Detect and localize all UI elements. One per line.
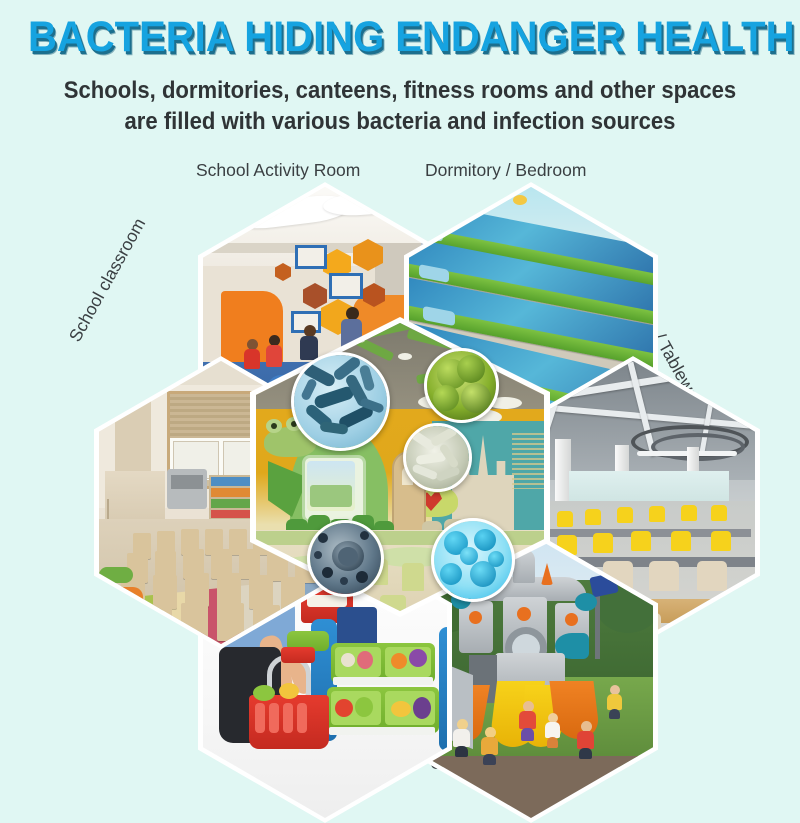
subtitle-line-2: are filled with various bacteria and inf… <box>32 107 768 138</box>
page-subtitle: Schools, dormitories, canteens, fitness … <box>32 76 768 137</box>
label-dormitory-bedroom: Dormitory / Bedroom <box>425 160 586 181</box>
germ-circle-grey-rods <box>403 423 472 492</box>
label-school-classroom: School classroom <box>65 215 150 346</box>
subtitle-line-1: Schools, dormitories, canteens, fitness … <box>64 77 736 104</box>
germ-circle-green-cocci <box>424 348 499 423</box>
infographic-canvas: BACTERIA HIDING ENDANGER HEALTH Schools,… <box>0 0 800 800</box>
germ-circle-dark-cluster <box>307 520 384 597</box>
label-school-activity-room: School Activity Room <box>196 160 360 181</box>
germ-circle-blue-bacilli <box>291 352 390 451</box>
page-title: BACTERIA HIDING ENDANGER HEALTH <box>28 16 772 59</box>
germ-circle-cyan-cluster <box>431 518 515 602</box>
